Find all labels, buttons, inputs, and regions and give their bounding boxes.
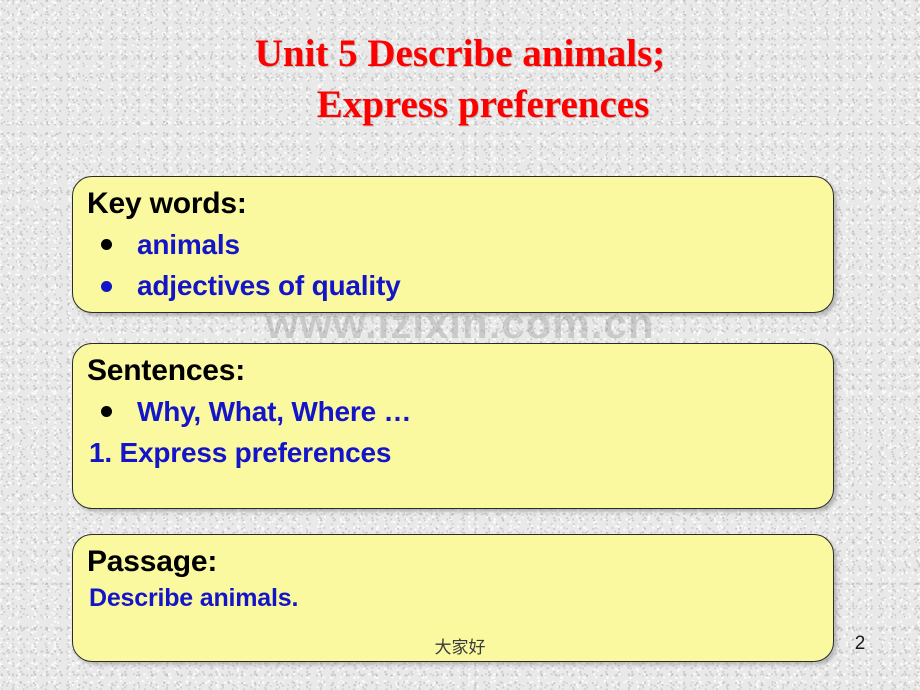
panel-passage-content: Passage: Describe animals. xyxy=(73,535,833,614)
panel-sentences: Sentences: Why, What, Where … 1. Express… xyxy=(72,343,834,509)
bullet-dot-icon xyxy=(101,281,112,292)
list-item-label: adjectives of quality xyxy=(137,270,400,301)
page-title-line-1: Unit 5 Describe animals; xyxy=(60,28,860,79)
panel-passage-subline: Describe animals. xyxy=(87,582,833,615)
panel-sentences-content: Sentences: Why, What, Where … 1. Express… xyxy=(73,344,833,474)
panel-sentences-list: Why, What, Where … xyxy=(87,391,833,432)
panel-key-words: Key words: animals adjectives of quality xyxy=(72,176,834,313)
list-item: Why, What, Where … xyxy=(87,391,833,432)
panel-passage-heading: Passage: xyxy=(87,545,833,580)
list-item: animals xyxy=(87,224,833,265)
panel-sentences-numbered-item: 1. Express preferences xyxy=(87,432,833,473)
page-title-line-2: Express preferences xyxy=(60,79,860,130)
bullet-dot-icon xyxy=(101,406,112,417)
panel-key-words-content: Key words: animals adjectives of quality xyxy=(73,177,833,307)
panel-sentences-heading: Sentences: xyxy=(87,354,833,389)
slide-canvas: www.izixin.com.cn Unit 5 Describe animal… xyxy=(0,0,920,690)
page-title: Unit 5 Describe animals; Express prefere… xyxy=(60,28,860,131)
footer-note: 大家好 xyxy=(0,633,920,658)
panel-key-words-heading: Key words: xyxy=(87,187,833,222)
page-number: 2 xyxy=(845,633,875,655)
bullet-dot-icon xyxy=(101,239,112,250)
panel-key-words-list: animals adjectives of quality xyxy=(87,224,833,307)
list-item: adjectives of quality xyxy=(87,265,833,306)
list-item-label: Why, What, Where … xyxy=(137,396,411,427)
list-item-label: animals xyxy=(137,229,240,260)
